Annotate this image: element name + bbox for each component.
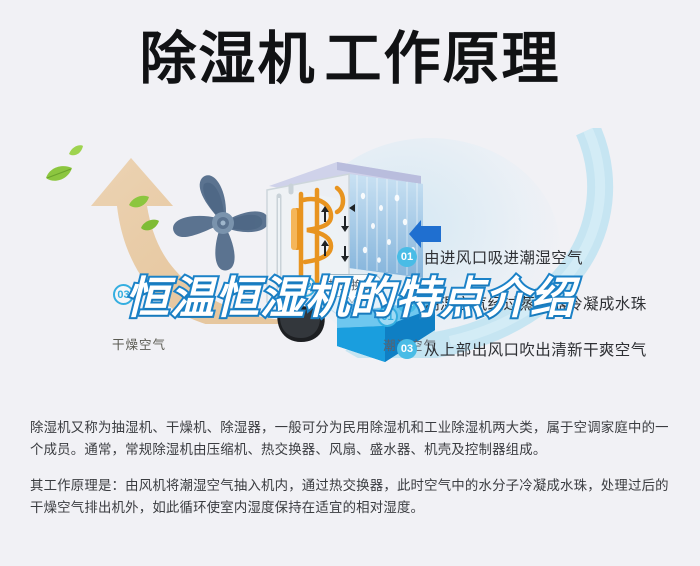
leaf-icon xyxy=(44,164,74,184)
page-title-part2: 工作原理 xyxy=(325,27,561,91)
article-body: 除湿机又称为抽湿机、干燥机、除湿器，一般可分为民用除湿机和工业除湿机两大类，属于… xyxy=(30,417,675,533)
step-badge-03: 03 xyxy=(397,339,417,359)
step-item-03: 03 从上部出风口吹出清新干爽空气 xyxy=(397,335,697,363)
page-root: 除湿机工作原理 xyxy=(0,0,700,566)
leaf-icon xyxy=(68,144,84,158)
dry-air-label: 干燥空气 xyxy=(112,334,166,353)
leaf-icon xyxy=(128,194,150,210)
step-text-03: 从上部出风口吹出清新干爽空气 xyxy=(424,338,647,360)
page-title-part1: 除湿机 xyxy=(140,27,317,91)
article-paragraph-2: 其工作原理是：由风机将潮湿空气抽入机内，通过热交换器，此时空气中的水分子冷凝成水… xyxy=(30,475,675,519)
article-paragraph-1: 除湿机又称为抽湿机、干燥机、除湿器，一般可分为民用除湿机和工业除湿机两大类，属于… xyxy=(30,417,675,461)
page-title: 除湿机工作原理 xyxy=(0,28,700,91)
overlay-headline: 恒温恒湿机的特点介绍 xyxy=(0,262,700,326)
leaf-icon xyxy=(140,218,160,233)
